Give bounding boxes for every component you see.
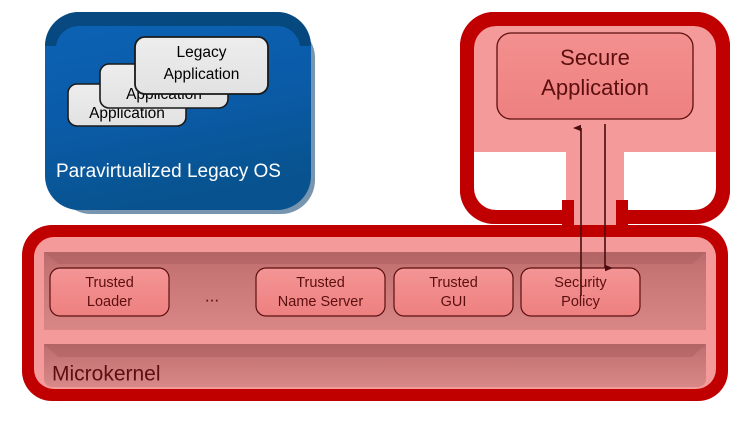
trusted-computing-base-container[interactable]: Trusted Loader ... Trusted Name Server T…: [22, 225, 728, 401]
service-label-2-line2: Name Server: [278, 294, 364, 310]
secure-application-label-line2: Application: [541, 75, 649, 100]
services-ellipsis: ...: [205, 286, 219, 305]
service-label-1-line1: Trusted: [85, 275, 134, 291]
trusted-services-band-bevel: [44, 252, 706, 264]
trusted-service-box-loader[interactable]: Trusted Loader: [50, 268, 169, 316]
service-label-1-line2: Loader: [87, 294, 132, 310]
diagram-canvas: Paravirtualized Legacy OS Legacy Applica…: [0, 0, 750, 426]
microkernel-label: Microkernel: [52, 363, 161, 386]
secure-application-label-line1: Secure: [560, 45, 630, 70]
service-label-2-line1: Trusted: [296, 275, 345, 291]
legacy-app-label-1-line1: Legacy: [177, 44, 227, 61]
trusted-service-box-gui[interactable]: Trusted GUI: [394, 268, 513, 316]
architecture-diagram: Paravirtualized Legacy OS Legacy Applica…: [0, 0, 750, 426]
secure-application-pedestal[interactable]: Secure Application: [460, 12, 730, 250]
microkernel-band[interactable]: Microkernel: [44, 344, 706, 387]
service-label-4-line2: Policy: [561, 294, 600, 310]
service-label-3-line1: Trusted: [429, 275, 478, 291]
legacy-app-label-1-line2: Application: [164, 66, 240, 83]
trusted-service-box-name-server[interactable]: Trusted Name Server: [256, 268, 385, 316]
microkernel-band-bevel: [44, 344, 706, 357]
legacy-os-label: Paravirtualized Legacy OS: [56, 161, 281, 182]
service-label-3-line2: GUI: [441, 294, 467, 310]
legacy-application-box-front[interactable]: Legacy Application: [135, 37, 268, 94]
